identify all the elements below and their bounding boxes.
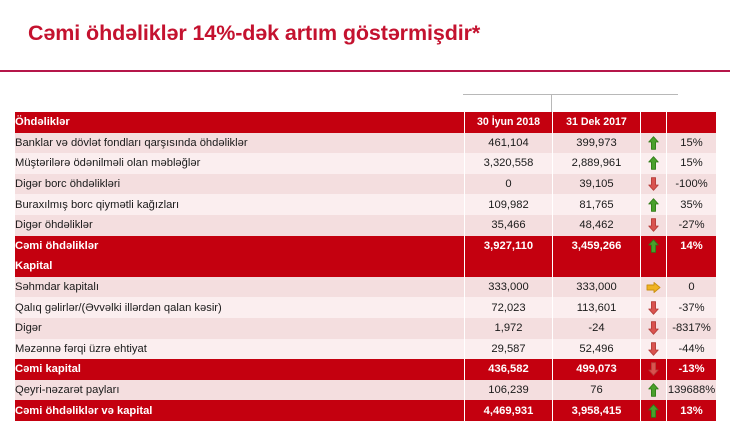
table-row: Cəmi öhdəliklər və kapital4,469,9313,958… xyxy=(15,400,717,421)
row-label: Cəmi öhdəliklər xyxy=(15,236,465,257)
title-divider xyxy=(0,70,730,72)
table-row: Məzənnə fərqi üzrə ehtiyat29,58752,496-4… xyxy=(15,339,717,360)
row-trend-arrow xyxy=(641,215,667,236)
row-label: Digər borc öhdəlikləri xyxy=(15,174,465,195)
row-value-col2: 333,000 xyxy=(553,277,641,298)
row-trend-arrow xyxy=(641,339,667,360)
row-value-col2: 39,105 xyxy=(553,174,641,195)
row-trend-arrow xyxy=(641,174,667,195)
row-value-col1 xyxy=(465,256,553,277)
table-row: Buraxılmış borc qiymətli kağızları109,98… xyxy=(15,194,717,215)
down-arrow-icon xyxy=(648,321,659,335)
header-label: Öhdəliklər xyxy=(15,112,465,133)
row-trend-arrow xyxy=(641,297,667,318)
row-label: Qeyri-nəzarət payları xyxy=(15,380,465,401)
up-arrow-icon xyxy=(648,198,659,212)
row-value-col2: 2,889,961 xyxy=(553,153,641,174)
row-value-col2 xyxy=(553,256,641,277)
row-change-percent: -13% xyxy=(667,359,717,380)
row-change-percent: -27% xyxy=(667,215,717,236)
row-value-col1: 333,000 xyxy=(465,277,553,298)
row-value-col2: 52,496 xyxy=(553,339,641,360)
row-change-percent: 0 xyxy=(667,277,717,298)
financial-table: Öhdəliklər 30 İyun 2018 31 Dek 2017 Bank… xyxy=(14,112,717,421)
row-label: Buraxılmış borc qiymətli kağızları xyxy=(15,194,465,215)
row-label: Digər xyxy=(15,318,465,339)
row-label: Məzənnə fərqi üzrə ehtiyat xyxy=(15,339,465,360)
row-value-col2: 81,765 xyxy=(553,194,641,215)
row-value-col2: 3,459,266 xyxy=(553,236,641,257)
down-arrow-icon xyxy=(648,177,659,191)
row-change-percent: 15% xyxy=(667,153,717,174)
header-pct xyxy=(667,112,717,133)
table-row: Müştərilərə ödənilməli olan məbləğlər3,3… xyxy=(15,153,717,174)
table-row: Banklar və dövlət fondları qarşısında öh… xyxy=(15,133,717,154)
row-trend-arrow xyxy=(641,153,667,174)
table-row: Qeyri-nəzarət payları106,23976139688% xyxy=(15,380,717,401)
row-value-col1: 3,927,110 xyxy=(465,236,553,257)
row-trend-arrow xyxy=(641,133,667,154)
row-value-col1: 461,104 xyxy=(465,133,553,154)
up-arrow-icon xyxy=(648,239,659,253)
row-value-col1: 3,320,558 xyxy=(465,153,553,174)
column-group-tick xyxy=(551,94,552,112)
table-row: Digər öhdəliklər35,46648,462-27% xyxy=(15,215,717,236)
row-change-percent: -100% xyxy=(667,174,717,195)
row-change-percent: 35% xyxy=(667,194,717,215)
row-value-col2: 48,462 xyxy=(553,215,641,236)
row-trend-arrow xyxy=(641,236,667,257)
table-row: Digər1,972-24-8317% xyxy=(15,318,717,339)
row-label: Müştərilərə ödənilməli olan məbləğlər xyxy=(15,153,465,174)
row-value-col2: 399,973 xyxy=(553,133,641,154)
row-value-col1: 1,972 xyxy=(465,318,553,339)
row-trend-arrow xyxy=(641,277,667,298)
row-change-percent: 139688% xyxy=(667,380,717,401)
row-value-col2: 3,958,415 xyxy=(553,400,641,421)
up-arrow-icon xyxy=(648,404,659,418)
up-arrow-icon xyxy=(648,156,659,170)
table-row: Cəmi öhdəliklər3,927,1103,459,26614% xyxy=(15,236,717,257)
row-value-col2: -24 xyxy=(553,318,641,339)
row-value-col2: 76 xyxy=(553,380,641,401)
table-row: Səhmdar kapitalı333,000333,0000 xyxy=(15,277,717,298)
row-trend-arrow xyxy=(641,359,667,380)
row-value-col2: 499,073 xyxy=(553,359,641,380)
page-title: Cəmi öhdəliklər 14%-dək artım göstərmişd… xyxy=(28,21,480,46)
row-change-percent: 14% xyxy=(667,236,717,257)
up-arrow-icon xyxy=(648,136,659,150)
row-trend-arrow xyxy=(641,318,667,339)
row-value-col1: 0 xyxy=(465,174,553,195)
row-change-percent: -8317% xyxy=(667,318,717,339)
row-value-col1: 436,582 xyxy=(465,359,553,380)
row-value-col2: 113,601 xyxy=(553,297,641,318)
row-change-percent: -37% xyxy=(667,297,717,318)
table-header-row: Öhdəliklər 30 İyun 2018 31 Dek 2017 xyxy=(15,112,717,133)
header-col2: 31 Dek 2017 xyxy=(553,112,641,133)
row-trend-arrow xyxy=(641,380,667,401)
row-label: Qalıq gəlirlər/(Əvvəlki illərdən qalan k… xyxy=(15,297,465,318)
row-label: Səhmdar kapitalı xyxy=(15,277,465,298)
row-label: Cəmi kapital xyxy=(15,359,465,380)
down-arrow-icon xyxy=(648,342,659,356)
row-value-col1: 106,239 xyxy=(465,380,553,401)
row-label: Banklar və dövlət fondları qarşısında öh… xyxy=(15,133,465,154)
row-value-col1: 4,469,931 xyxy=(465,400,553,421)
row-trend-arrow xyxy=(641,194,667,215)
table-row: Digər borc öhdəlikləri039,105-100% xyxy=(15,174,717,195)
row-change-percent: 13% xyxy=(667,400,717,421)
up-arrow-icon xyxy=(648,383,659,397)
row-value-col1: 35,466 xyxy=(465,215,553,236)
row-change-percent: 15% xyxy=(667,133,717,154)
row-trend-arrow xyxy=(641,256,667,277)
down-arrow-icon xyxy=(648,218,659,232)
flat-arrow-icon xyxy=(646,281,661,294)
row-change-percent xyxy=(667,256,717,277)
row-value-col1: 29,587 xyxy=(465,339,553,360)
down-arrow-icon xyxy=(648,301,659,315)
row-label: Cəmi öhdəliklər və kapital xyxy=(15,400,465,421)
header-col1: 30 İyun 2018 xyxy=(465,112,553,133)
table-body: Banklar və dövlət fondları qarşısında öh… xyxy=(15,133,717,421)
row-trend-arrow xyxy=(641,400,667,421)
table-row: Kapital xyxy=(15,256,717,277)
row-value-col1: 72,023 xyxy=(465,297,553,318)
header-arrow xyxy=(641,112,667,133)
row-label: Digər öhdəliklər xyxy=(15,215,465,236)
column-group-rule xyxy=(463,94,678,95)
down-arrow-icon xyxy=(648,362,659,376)
row-change-percent: -44% xyxy=(667,339,717,360)
row-label: Kapital xyxy=(15,256,465,277)
table-row: Qalıq gəlirlər/(Əvvəlki illərdən qalan k… xyxy=(15,297,717,318)
row-value-col1: 109,982 xyxy=(465,194,553,215)
table-row: Cəmi kapital436,582499,073-13% xyxy=(15,359,717,380)
